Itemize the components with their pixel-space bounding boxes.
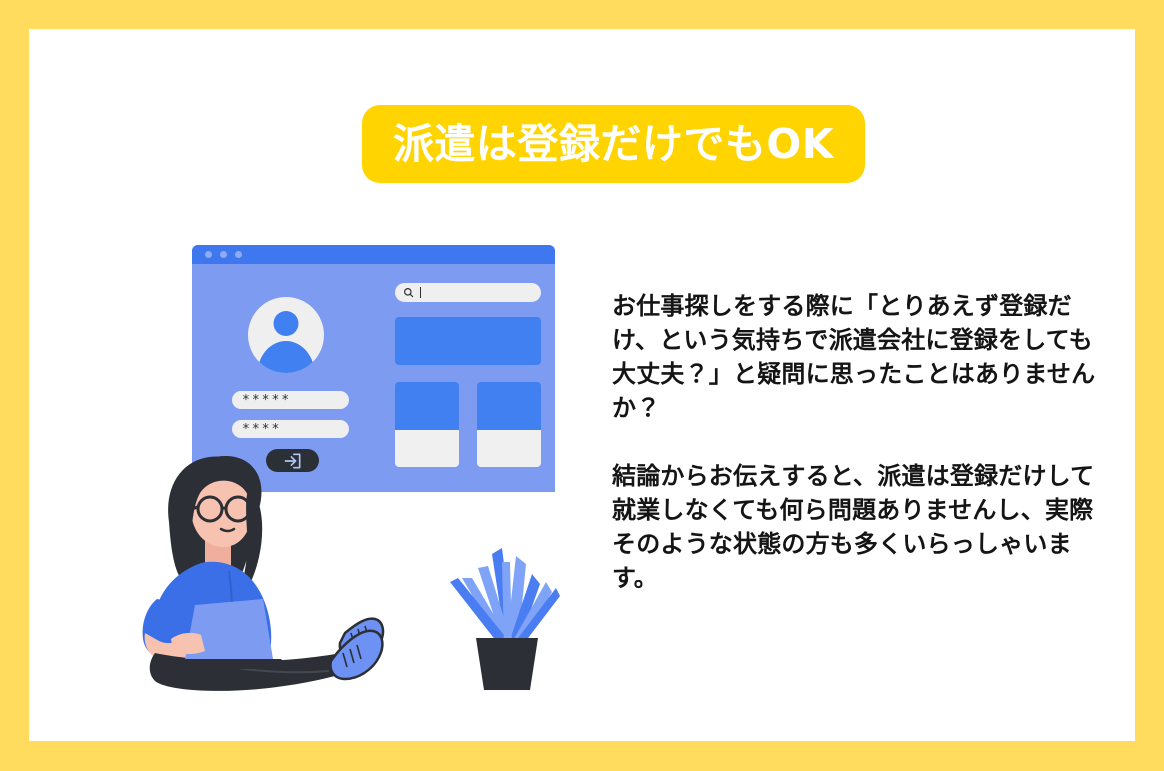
plant-leaves bbox=[450, 548, 560, 646]
page-title: 派遣は登録だけでもOK bbox=[393, 124, 834, 165]
avatar-body-shape bbox=[257, 341, 315, 373]
username-field-value: ***** bbox=[242, 394, 291, 407]
search-icon bbox=[403, 287, 414, 298]
card-block-left-footer bbox=[395, 430, 459, 467]
plant-pot bbox=[476, 638, 538, 690]
password-field[interactable]: **** bbox=[232, 420, 349, 438]
card-block-right bbox=[477, 382, 541, 467]
window-dot-icon bbox=[235, 251, 242, 258]
hero-block bbox=[395, 317, 541, 365]
body-copy: お仕事探しをする際に「とりあえず登録だけ、という気持ちで派遣会社に登録をしても大… bbox=[612, 289, 1098, 595]
slide-canvas: 派遣は登録だけでもOK ***** **** bbox=[0, 0, 1164, 771]
window-dot-icon bbox=[220, 251, 227, 258]
card-block-right-footer bbox=[477, 430, 541, 467]
slide-inner-card: 派遣は登録だけでもOK ***** **** bbox=[29, 29, 1135, 741]
paragraph-1: お仕事探しをする際に「とりあえず登録だけ、という気持ちで派遣会社に登録をしても大… bbox=[612, 289, 1098, 425]
title-badge: 派遣は登録だけでもOK bbox=[362, 105, 865, 183]
browser-titlebar bbox=[192, 245, 555, 264]
password-field-value: **** bbox=[242, 423, 281, 436]
card-block-left bbox=[395, 382, 459, 467]
potted-plant-illustration bbox=[444, 534, 569, 694]
user-avatar-icon bbox=[248, 297, 324, 373]
search-input[interactable] bbox=[395, 283, 541, 302]
avatar-head-shape bbox=[274, 311, 299, 336]
username-field[interactable]: ***** bbox=[232, 391, 349, 409]
window-dot-icon bbox=[205, 251, 212, 258]
text-caret-icon bbox=[420, 287, 421, 298]
paragraph-2: 結論からお伝えすると、派遣は登録だけして就業しなくても何ら問題ありませんし、実際… bbox=[612, 459, 1098, 595]
woman-with-laptop-illustration bbox=[109, 447, 399, 697]
